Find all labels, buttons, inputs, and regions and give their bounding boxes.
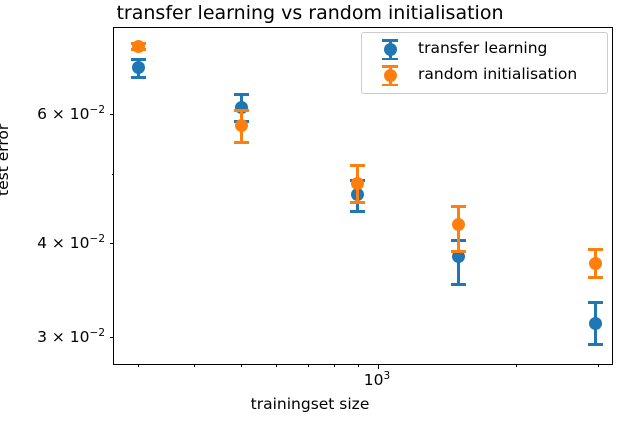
- legend-item-transfer-learning[interactable]: transfer learning: [362, 37, 607, 62]
- figure-canvas: transfer learning vs random initialisati…: [0, 0, 620, 422]
- legend-label-transfer-learning: transfer learning: [418, 39, 547, 57]
- legend-marker-random-initialisation: [374, 63, 406, 88]
- errorbar-cap-top: [234, 109, 249, 112]
- errorbar-cap-top: [588, 248, 603, 251]
- data-point-random-initialisation-5: [589, 257, 602, 270]
- legend-point-marker: [384, 43, 397, 56]
- ytick-mark-6e-2: [110, 114, 114, 115]
- data-point-random-initialisation-2: [235, 119, 248, 132]
- xtick-mark-minor-5: [308, 364, 309, 367]
- chart-legend[interactable]: transfer learning random initialisation: [361, 32, 608, 94]
- xtick-mark-minor-4: [276, 364, 277, 367]
- xtick-mark-1e3: [378, 364, 379, 369]
- xtick-mark-minor-1: [138, 364, 139, 367]
- errorbar-cap-top: [234, 93, 249, 96]
- data-point-random-initialisation-1: [132, 40, 145, 53]
- x-axis-label: trainingset size: [0, 395, 620, 413]
- errorbar-cap-bottom: [350, 210, 365, 213]
- y-tick-label-3e-2: 3 × 10−2: [5, 327, 105, 346]
- errorbar-cap-top: [588, 301, 603, 304]
- data-point-random-initialisation-4: [452, 218, 465, 231]
- xtick-mark-minor-2: [194, 364, 195, 367]
- chart-title: transfer learning vs random initialisati…: [0, 2, 620, 24]
- errorbar-cap-top: [350, 164, 365, 167]
- errorbar-cap-bottom: [588, 276, 603, 279]
- legend-errorbar-cap-top: [382, 39, 398, 42]
- legend-marker-transfer-learning: [374, 37, 406, 62]
- xtick-mark-minor-7: [358, 364, 359, 367]
- ytick-mark-4e-2: [110, 243, 114, 244]
- errorbar-cap-bottom: [234, 141, 249, 144]
- errorbar-cap-top: [451, 205, 466, 208]
- ytick-mark-3e-2: [110, 337, 114, 338]
- xtick-mark-minor-8: [516, 364, 517, 367]
- data-point-random-initialisation-3: [351, 177, 364, 190]
- data-point-transfer-learning-5: [589, 317, 602, 330]
- legend-errorbar-cap-top: [382, 65, 398, 68]
- legend-item-random-initialisation[interactable]: random initialisation: [362, 63, 607, 88]
- errorbar-cap-bottom: [350, 201, 365, 204]
- legend-errorbar-cap-bottom: [382, 84, 398, 87]
- xtick-mark-minor-9: [598, 364, 599, 367]
- legend-point-marker: [384, 69, 397, 82]
- x-tick-label-1e3: 103: [317, 370, 437, 389]
- errorbar-cap-bottom: [451, 250, 466, 253]
- y-tick-label-6e-2: 6 × 10−2: [5, 104, 105, 123]
- xtick-mark-minor-6: [334, 364, 335, 367]
- errorbar-cap-bottom: [451, 283, 466, 286]
- xtick-mark-minor-3: [241, 364, 242, 367]
- y-axis-label: test error: [0, 124, 12, 196]
- data-point-transfer-learning-1: [132, 61, 145, 74]
- legend-label-random-initialisation: random initialisation: [418, 65, 577, 83]
- errorbar-cap-bottom: [131, 76, 146, 79]
- legend-errorbar-cap-bottom: [382, 58, 398, 61]
- errorbar-cap-bottom: [588, 343, 603, 346]
- ytick-mark-5e-2-minor: [112, 174, 115, 175]
- y-tick-label-4e-2: 4 × 10−2: [5, 233, 105, 252]
